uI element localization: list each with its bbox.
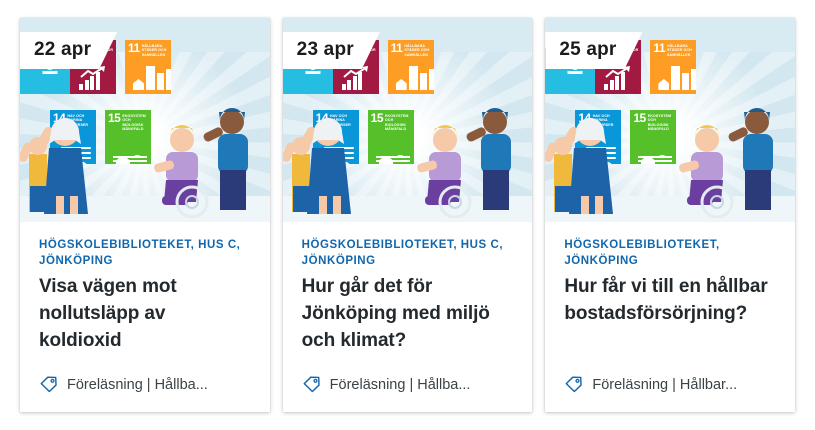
sdg-number: 15 (371, 113, 383, 123)
sdg-label: HÅLLBARA STÄDER OCH SAMHÄLLEN (404, 43, 430, 57)
sdg-art-city (391, 57, 431, 94)
sdg-art-forest (108, 131, 148, 164)
card-body: HÖGSKOLEBIBLIOTEKET, JÖNKÖPING Hur får v… (545, 222, 795, 375)
bar-chart-icon (79, 72, 100, 90)
event-title[interactable]: Hur går det för Jönköping med miljö och … (302, 274, 514, 355)
ground-line (113, 156, 147, 158)
ground-line (638, 156, 672, 158)
event-title[interactable]: Visa vägen mot nollutsläpp av koldioxid (39, 274, 251, 355)
water-bar-icon (568, 71, 583, 74)
event-tags: Föreläsning | Hållba... (330, 377, 471, 393)
water-bar-icon (305, 71, 320, 74)
ground-line (113, 160, 147, 162)
person-dark-blue (202, 100, 260, 210)
sdg-art-city (128, 57, 168, 94)
sdg-label: EKOSYSTEM OCH BIOLOGISK MÅNGFALD (648, 113, 674, 131)
sdg-label: EKOSYSTEM OCH BIOLOGISK MÅNGFALD (122, 113, 148, 131)
card-body: HÖGSKOLEBIBLIOTEKET, HUS C, JÖNKÖPING Vi… (20, 222, 270, 375)
event-tags: Föreläsning | Hållbar... (592, 377, 737, 393)
water-bar-icon (43, 71, 58, 74)
sdg-poster-11: 11 HÅLLBARA STÄDER OCH SAMHÄLLEN (125, 40, 171, 94)
buildings-icon (658, 66, 696, 90)
event-title[interactable]: Hur får vi till en hållbar bostadsförsör… (564, 274, 776, 328)
sdg-number: 11 (391, 43, 403, 53)
sdg-art-growth (73, 65, 113, 94)
person-dark-blue (465, 100, 523, 210)
card-body: HÖGSKOLEBIBLIOTEKET, HUS C, JÖNKÖPING Hu… (283, 222, 533, 375)
bar-chart-icon (604, 72, 625, 90)
sdg-poster-11: 11 HÅLLBARA STÄDER OCH SAMHÄLLEN (388, 40, 434, 94)
tag-icon (564, 375, 583, 394)
person-elder-woman (34, 96, 96, 214)
sdg-art-growth (336, 65, 376, 94)
card-footer: Föreläsning | Hållba... (20, 375, 270, 412)
ground-line (376, 160, 410, 162)
buildings-icon (396, 66, 434, 90)
sdg-art-forest (371, 131, 411, 164)
sdg-poster-11: 11 HÅLLBARA STÄDER OCH SAMHÄLLEN (650, 40, 696, 94)
event-card[interactable]: 8 ANSTÄNDIGA ARBETSVILLKOR OCH EKONOMISK… (545, 18, 795, 412)
sdg-poster-15: 15 EKOSYSTEM OCH BIOLOGISK MÅNGFALD (630, 110, 676, 164)
card-footer: Föreläsning | Hållba... (283, 375, 533, 412)
card-illustration: 8 ANSTÄNDIGA ARBETSVILLKOR OCH EKONOMISK… (545, 18, 795, 222)
event-tags: Föreläsning | Hållba... (67, 377, 208, 393)
sdg-poster-15: 15 EKOSYSTEM OCH BIOLOGISK MÅNGFALD (368, 110, 414, 164)
sdg-number: 15 (108, 113, 120, 123)
event-location: HÖGSKOLEBIBLIOTEKET, HUS C, JÖNKÖPING (302, 238, 514, 269)
person-dark-blue (727, 100, 785, 210)
ground-line (376, 156, 410, 158)
sdg-number: 11 (653, 43, 665, 53)
event-location: HÖGSKOLEBIBLIOTEKET, JÖNKÖPING (564, 238, 776, 269)
sdg-label: HÅLLBARA STÄDER OCH SAMHÄLLEN (667, 43, 693, 57)
card-footer: Föreläsning | Hållbar... (545, 375, 795, 412)
sdg-art-forest (633, 131, 673, 164)
event-card[interactable]: 8 ANSTÄNDIGA ARBETSVILLKOR OCH EKONOMISK… (283, 18, 533, 412)
sdg-number: 11 (128, 43, 140, 53)
ground-line (638, 160, 672, 162)
event-location: HÖGSKOLEBIBLIOTEKET, HUS C, JÖNKÖPING (39, 238, 251, 269)
card-illustration: 8 ANSTÄNDIGA ARBETSVILLKOR OCH EKONOMISK… (20, 18, 270, 222)
event-card-list: 8 ANSTÄNDIGA ARBETSVILLKOR OCH EKONOMISK… (0, 0, 815, 430)
sdg-art-city (653, 57, 693, 94)
event-card[interactable]: 8 ANSTÄNDIGA ARBETSVILLKOR OCH EKONOMISK… (20, 18, 270, 412)
sdg-number: 15 (633, 113, 645, 123)
bar-chart-icon (342, 72, 363, 90)
tag-icon (302, 375, 321, 394)
sdg-label: EKOSYSTEM OCH BIOLOGISK MÅNGFALD (385, 113, 411, 131)
person-elder-woman (297, 96, 359, 214)
buildings-icon (133, 66, 171, 90)
sdg-poster-15: 15 EKOSYSTEM OCH BIOLOGISK MÅNGFALD (105, 110, 151, 164)
card-illustration: 8 ANSTÄNDIGA ARBETSVILLKOR OCH EKONOMISK… (283, 18, 533, 222)
sdg-art-growth (598, 65, 638, 94)
person-elder-woman (559, 96, 621, 214)
tag-icon (39, 375, 58, 394)
sdg-label: HÅLLBARA STÄDER OCH SAMHÄLLEN (142, 43, 168, 57)
